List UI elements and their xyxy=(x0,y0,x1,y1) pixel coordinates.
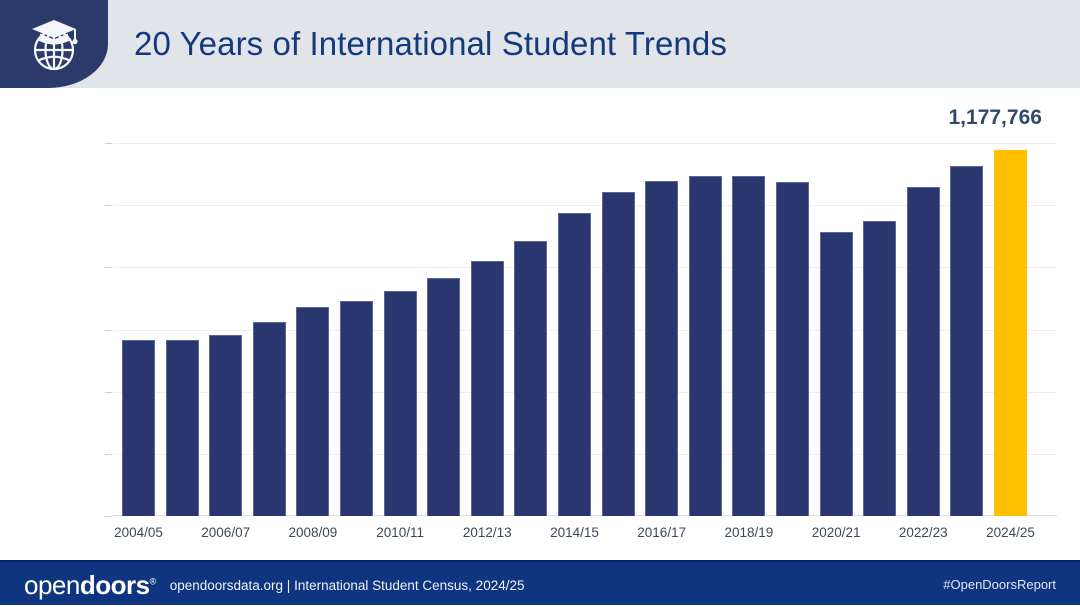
x-axis-tick-label: 2004/05 xyxy=(94,525,184,540)
bar-2016-17[interactable] xyxy=(645,181,678,516)
bar-2011-12[interactable] xyxy=(427,278,460,516)
footer-source-text: opendoorsdata.org | International Studen… xyxy=(170,576,525,593)
x-axis-tick-label: 2016/17 xyxy=(617,525,707,540)
x-axis-tick-label: 2024/25 xyxy=(966,525,1056,540)
bar-2012-13[interactable] xyxy=(471,261,504,516)
y-axis-tick-mark xyxy=(105,330,112,331)
y-axis-tick-mark xyxy=(105,454,112,455)
bar-2009-10[interactable] xyxy=(340,301,373,516)
opendoors-logo: opendoors® xyxy=(24,572,156,598)
x-axis-tick-label: 2018/19 xyxy=(704,525,794,540)
bar-2017-18[interactable] xyxy=(689,176,722,516)
bar-chart-plot: 0200,000400,000600,000800,0001,000,0001,… xyxy=(113,143,1057,516)
opendoors-logo-light: open xyxy=(24,570,80,600)
x-axis-tick-label: 2008/09 xyxy=(268,525,358,540)
bar-2024-25[interactable] xyxy=(994,150,1027,516)
bar-2004-05[interactable] xyxy=(122,340,155,516)
y-axis-tick-mark xyxy=(105,267,112,268)
bar-2020-21[interactable] xyxy=(820,232,853,516)
registered-mark-icon: ® xyxy=(150,576,156,586)
x-axis-tick-label: 2020/21 xyxy=(791,525,881,540)
bar-2015-16[interactable] xyxy=(602,192,635,516)
brand-logo-badge xyxy=(0,0,108,88)
bar-2023-24[interactable] xyxy=(950,166,983,516)
x-axis-tick-label: 2012/13 xyxy=(442,525,532,540)
y-axis-tick-mark xyxy=(105,205,112,206)
bar-2021-22[interactable] xyxy=(863,221,896,516)
bar-2019-20[interactable] xyxy=(776,182,809,516)
gridline xyxy=(113,143,1057,144)
y-axis-tick-mark xyxy=(105,392,112,393)
bar-2005-06[interactable] xyxy=(166,340,199,516)
bar-2010-11[interactable] xyxy=(384,291,417,516)
x-axis-tick-label: 2014/15 xyxy=(530,525,620,540)
footer-hashtag: #OpenDoorsReport xyxy=(943,562,1056,607)
bar-2006-07[interactable] xyxy=(209,335,242,516)
opendoors-logo-bold: doors xyxy=(80,570,150,600)
x-axis-tick-label: 2022/23 xyxy=(878,525,968,540)
y-axis-tick-mark xyxy=(105,143,112,144)
highlight-value-label: 1,177,766 xyxy=(949,106,1042,130)
bar-2022-23[interactable] xyxy=(907,187,940,516)
x-axis-tick-label: 2010/11 xyxy=(355,525,445,540)
y-axis-tick-mark xyxy=(105,516,112,517)
bar-2013-14[interactable] xyxy=(514,241,547,516)
chart-canvas: 1,177,766 0200,000400,000600,000800,0001… xyxy=(0,88,1080,560)
bar-2018-19[interactable] xyxy=(732,176,765,516)
bar-2007-08[interactable] xyxy=(253,322,286,516)
bar-2014-15[interactable] xyxy=(558,213,591,516)
bar-2008-09[interactable] xyxy=(296,307,329,516)
page-header: 20 Years of International Student Trends xyxy=(0,0,1080,88)
footer-brand-group: opendoors® opendoorsdata.org | Internati… xyxy=(24,562,524,607)
page-footer: opendoors® opendoorsdata.org | Internati… xyxy=(0,560,1080,605)
page-title: 20 Years of International Student Trends xyxy=(134,0,727,88)
x-axis-tick-label: 2006/07 xyxy=(181,525,271,540)
